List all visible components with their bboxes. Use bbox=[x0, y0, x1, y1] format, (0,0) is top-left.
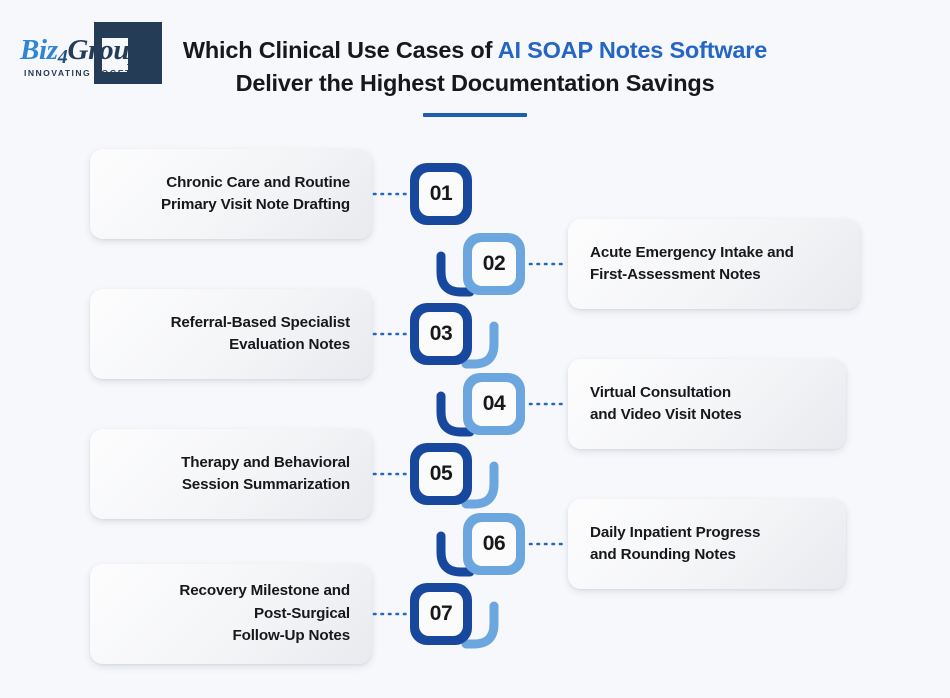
timeline-card-01-line-2: Primary Visit Note Drafting bbox=[112, 194, 350, 217]
timeline-card-01-line-1: Chronic Care and Routine bbox=[112, 172, 350, 195]
timeline-badge-07[interactable]: 07 bbox=[410, 583, 472, 645]
page-title-accent: AI SOAP Notes Software bbox=[498, 37, 767, 63]
timeline-card-05-line-1: Therapy and Behavioral bbox=[112, 452, 350, 475]
logo-wordmark: Biz4Group bbox=[20, 34, 143, 69]
timeline-badge-05[interactable]: 05 bbox=[410, 443, 472, 505]
timeline-card-05-text: Therapy and Behavioral Session Summariza… bbox=[112, 452, 350, 497]
timeline-card-07-line-1: Recovery Milestone and bbox=[112, 580, 350, 603]
title-underline-rule bbox=[423, 113, 527, 117]
logo-tagline: INNOVATING TOGETHER bbox=[24, 68, 154, 78]
timeline-card-05-line-2: Session Summarization bbox=[112, 474, 350, 497]
page-title-line-2: Deliver the Highest Documentation Saving… bbox=[175, 67, 775, 100]
timeline-card-04-line-2: and Video Visit Notes bbox=[590, 404, 824, 427]
page-title-plain: Which Clinical Use Cases of bbox=[183, 37, 498, 63]
timeline-badge-02-number: 02 bbox=[472, 242, 516, 286]
logo-word-group: Group bbox=[68, 34, 144, 66]
timeline-card-01[interactable]: Chronic Care and Routine Primary Visit N… bbox=[90, 149, 372, 239]
timeline-card-07-line-2: Post-Surgical bbox=[112, 603, 350, 626]
timeline-badge-05-number: 05 bbox=[419, 452, 463, 496]
timeline-card-06-line-2: and Rounding Notes bbox=[590, 544, 824, 567]
timeline-card-07[interactable]: Recovery Milestone and Post-Surgical Fol… bbox=[90, 564, 372, 664]
timeline-card-07-text: Recovery Milestone and Post-Surgical Fol… bbox=[112, 580, 350, 648]
timeline-badge-04[interactable]: 04 bbox=[463, 373, 525, 435]
timeline-card-03[interactable]: Referral-Based Specialist Evaluation Not… bbox=[90, 289, 372, 379]
timeline: Chronic Care and Routine Primary Visit N… bbox=[0, 132, 950, 698]
timeline-badge-01[interactable]: 01 bbox=[410, 163, 472, 225]
timeline-card-04-text: Virtual Consultation and Video Visit Not… bbox=[590, 382, 824, 427]
timeline-card-05[interactable]: Therapy and Behavioral Session Summariza… bbox=[90, 429, 372, 519]
timeline-badge-03[interactable]: 03 bbox=[410, 303, 472, 365]
brand-logo: Biz4Group INNOVATING TOGETHER bbox=[18, 22, 178, 84]
timeline-card-04[interactable]: Virtual Consultation and Video Visit Not… bbox=[568, 359, 846, 449]
timeline-badge-04-number: 04 bbox=[472, 382, 516, 426]
timeline-card-03-line-2: Evaluation Notes bbox=[112, 334, 350, 357]
timeline-card-03-text: Referral-Based Specialist Evaluation Not… bbox=[112, 312, 350, 357]
timeline-card-07-line-3: Follow-Up Notes bbox=[112, 625, 350, 648]
page-header: Biz4Group INNOVATING TOGETHER Which Clin… bbox=[0, 0, 950, 132]
logo-word-four: 4 bbox=[58, 46, 68, 68]
timeline-card-06-line-1: Daily Inpatient Progress bbox=[590, 522, 824, 545]
timeline-badge-06[interactable]: 06 bbox=[463, 513, 525, 575]
timeline-card-02-line-2: First-Assessment Notes bbox=[590, 264, 838, 287]
timeline-badge-07-number: 07 bbox=[419, 592, 463, 636]
timeline-card-01-text: Chronic Care and Routine Primary Visit N… bbox=[112, 172, 350, 217]
timeline-badge-02[interactable]: 02 bbox=[463, 233, 525, 295]
timeline-card-03-line-1: Referral-Based Specialist bbox=[112, 312, 350, 335]
page-title: Which Clinical Use Cases of AI SOAP Note… bbox=[175, 34, 775, 117]
timeline-card-06[interactable]: Daily Inpatient Progress and Rounding No… bbox=[568, 499, 846, 589]
timeline-badge-01-number: 01 bbox=[419, 172, 463, 216]
timeline-card-04-line-1: Virtual Consultation bbox=[590, 382, 824, 405]
timeline-card-02[interactable]: Acute Emergency Intake and First-Assessm… bbox=[568, 219, 860, 309]
timeline-card-06-text: Daily Inpatient Progress and Rounding No… bbox=[590, 522, 824, 567]
timeline-card-02-line-1: Acute Emergency Intake and bbox=[590, 242, 838, 265]
timeline-badge-06-number: 06 bbox=[472, 522, 516, 566]
page-title-line-1: Which Clinical Use Cases of AI SOAP Note… bbox=[175, 34, 775, 67]
timeline-badge-03-number: 03 bbox=[419, 312, 463, 356]
timeline-card-02-text: Acute Emergency Intake and First-Assessm… bbox=[590, 242, 838, 287]
logo-word-biz: Biz bbox=[20, 34, 58, 66]
